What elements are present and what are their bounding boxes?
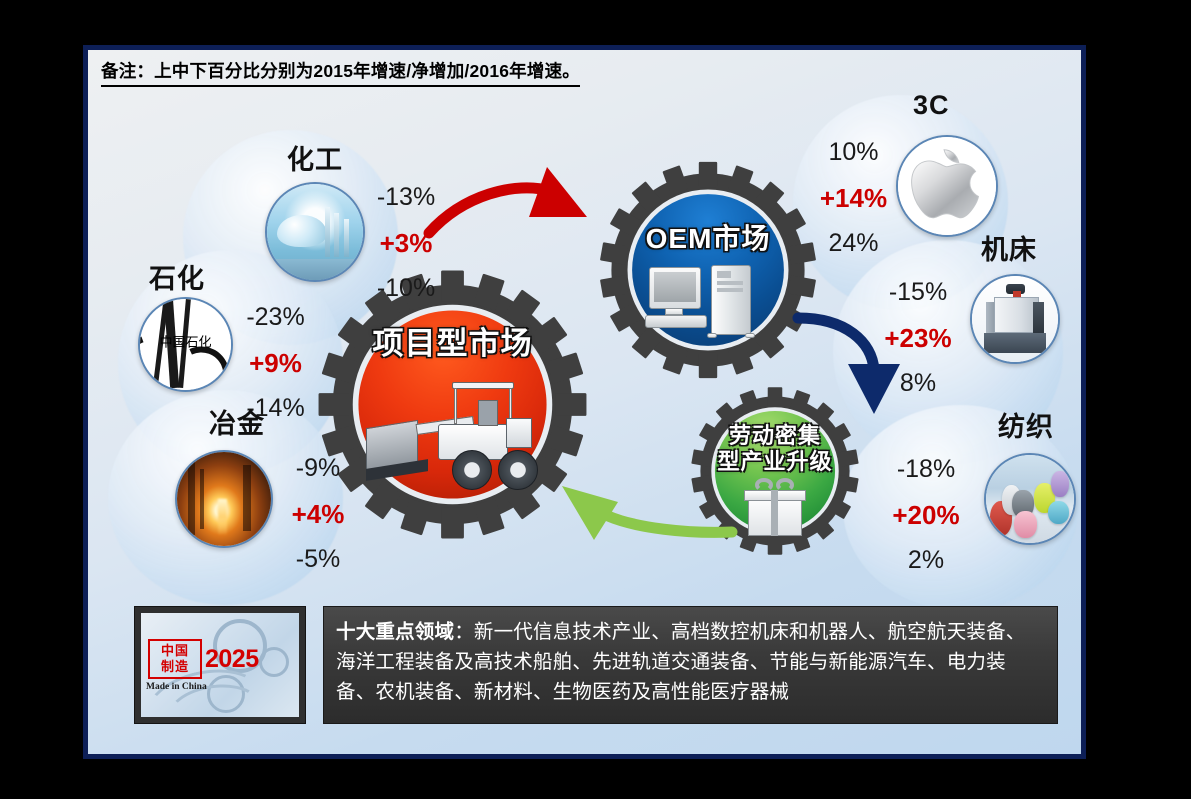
logo-subtitle: Made in China — [146, 682, 207, 692]
pct-2015: -9% — [273, 456, 363, 481]
furnace-icon — [175, 450, 273, 548]
net-change: +4% — [273, 501, 363, 527]
note-header: 备注：上中下百分比分别为2015年增速/净增加/2016年增速。 — [101, 58, 580, 87]
logo-year: 2025 — [205, 645, 259, 674]
fields-heading: 十大重点领域 — [336, 621, 454, 643]
apple-logo-icon — [896, 135, 998, 237]
pct-2015: -13% — [361, 185, 451, 210]
pct-2015: 10% — [806, 140, 901, 165]
made-in-china-logo-box: 中国 制造 2025 Made in China — [134, 606, 306, 724]
seal-line-1: 中国 — [150, 643, 200, 659]
fields-colon: ： — [454, 621, 474, 643]
ten-key-fields-box: 十大重点领域：新一代信息技术产业、高档数控机床和机器人、航空航天装备、海洋工程装… — [323, 606, 1058, 724]
pct-2015: -15% — [868, 280, 968, 305]
industry-label-chemical: 化工 — [287, 138, 343, 177]
industry-label-3c: 3C — [913, 90, 950, 121]
industry-label-machine-tool: 机床 — [981, 228, 1037, 267]
cnc-machine-icon — [970, 274, 1060, 364]
industry-label-petrochemical: 石化 — [149, 257, 205, 296]
china-seal-icon: 中国 制造 — [148, 639, 202, 679]
pct-2016: 2% — [876, 548, 976, 573]
net-change: +9% — [228, 350, 323, 376]
seal-line-2: 制造 — [150, 659, 200, 675]
industry-values-machine-tool: -15% +23% 8% — [868, 280, 968, 396]
industry-values-metallurgy: -9% +4% -5% — [273, 456, 363, 572]
industry-textile[interactable]: 纺织 -18% +20% 2% — [848, 395, 1086, 595]
pct-2015: -18% — [876, 457, 976, 482]
industry-label-textile: 纺织 — [998, 405, 1054, 444]
slide-canvas: 备注：上中下百分比分别为2015年增速/净增加/2016年增速。 — [0, 0, 1191, 799]
pct-2016: 8% — [868, 371, 968, 396]
industry-label-metallurgy: 冶金 — [209, 402, 265, 441]
net-change: +20% — [876, 502, 976, 528]
industry-values-textile: -18% +20% 2% — [876, 457, 976, 573]
sinopec-logo-icon: 中国石化 — [138, 297, 233, 392]
pct-2015: -23% — [228, 305, 323, 330]
net-change: +14% — [806, 185, 901, 211]
bearing-graphic — [259, 647, 289, 677]
slide-frame: 备注：上中下百分比分别为2015年增速/净增加/2016年增速。 — [83, 45, 1086, 759]
pct-2016: -5% — [273, 547, 363, 572]
net-change: +3% — [361, 230, 451, 256]
net-change: +23% — [868, 325, 968, 351]
industry-metallurgy[interactable]: 冶金 -9% +4% -5% — [113, 400, 373, 600]
fabric-rolls-icon — [984, 453, 1076, 545]
